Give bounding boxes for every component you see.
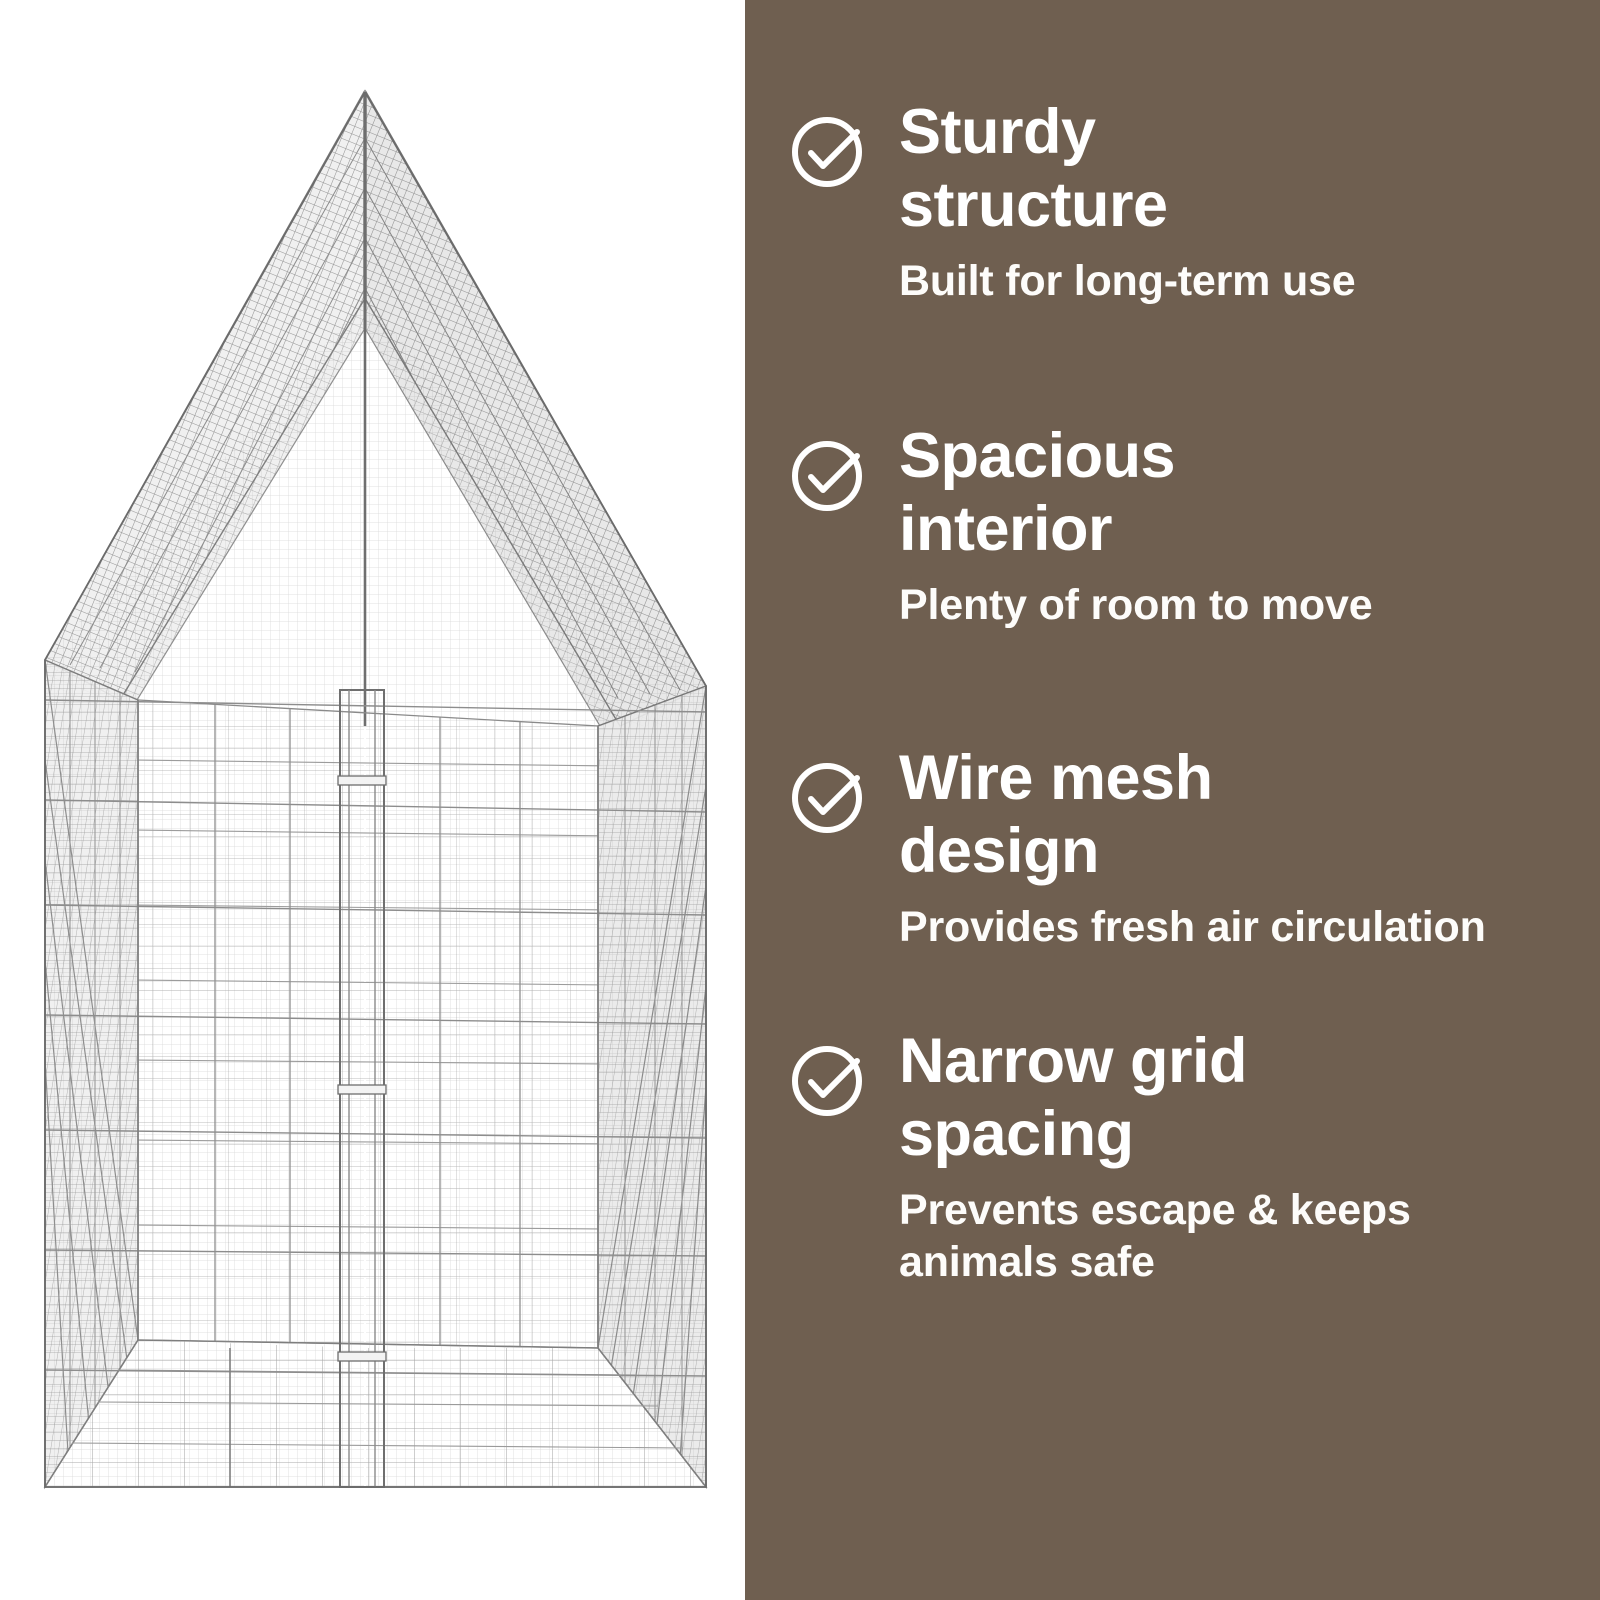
feature-gap [787,308,1530,420]
features-panel: Sturdy structure Built for long-term use… [745,0,1600,1600]
feature-gap [787,953,1530,1025]
check-circle-icon [787,1039,871,1123]
feature-item-wire-mesh-design: Wire mesh design Provides fresh air circ… [787,742,1530,954]
product-feature-banner: Sturdy structure Built for long-term use… [0,0,1600,1600]
feature-description: Provides fresh air circulation [899,902,1530,954]
feature-title: Sturdy structure [899,96,1329,242]
check-circle-icon [787,756,871,840]
feature-gap [787,632,1530,742]
feature-text: Sturdy structure Built for long-term use [899,96,1530,308]
feature-description: Prevents escape & keeps animals safe [899,1185,1530,1288]
feature-description: Plenty of room to move [899,580,1530,632]
feature-text: Wire mesh design Provides fresh air circ… [899,742,1530,954]
feature-text: Spacious interior Plenty of room to move [899,420,1530,632]
check-circle-icon [787,110,871,194]
feature-title: Narrow grid spacing [899,1025,1329,1171]
feature-item-sturdy-structure: Sturdy structure Built for long-term use [787,96,1530,308]
check-circle-icon [787,434,871,518]
feature-item-spacious-interior: Spacious interior Plenty of room to move [787,420,1530,632]
feature-title: Wire mesh design [899,742,1329,888]
wire-mesh-run-illustration [0,0,745,1600]
feature-item-narrow-grid-spacing: Narrow grid spacing Prevents escape & ke… [787,1025,1530,1288]
feature-title: Spacious interior [899,420,1329,566]
product-image-panel [0,0,745,1600]
feature-description: Built for long-term use [899,256,1530,308]
feature-text: Narrow grid spacing Prevents escape & ke… [899,1025,1530,1288]
